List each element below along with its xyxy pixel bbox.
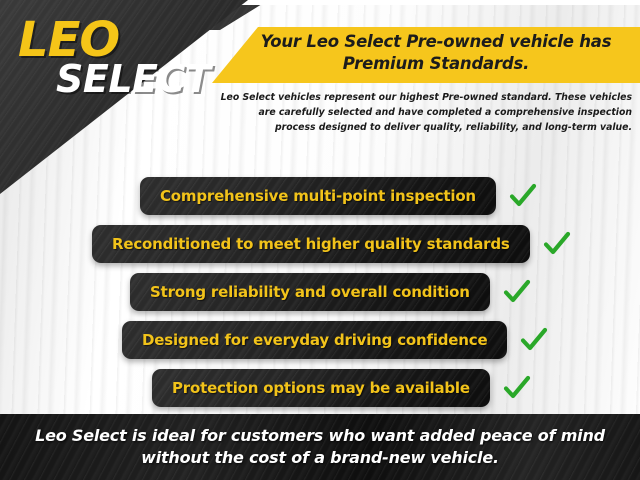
page-headline: Your Leo Select Pre-owned vehicle has Pr… bbox=[240, 31, 632, 75]
footer-bar: Leo Select is ideal for customers who wa… bbox=[0, 414, 640, 480]
leo-select-poster: LEO SELECT Your Leo Select Pre-owned veh… bbox=[0, 0, 640, 480]
leo-select-logo: LEO SELECT bbox=[18, 16, 208, 106]
feature-pill-label: Reconditioned to meet higher quality sta… bbox=[112, 235, 510, 253]
feature-pill-label: Strong reliability and overall condition bbox=[150, 283, 470, 301]
check-icon bbox=[542, 229, 572, 259]
check-icon bbox=[519, 325, 549, 355]
feature-pill[interactable]: Comprehensive multi-point inspection bbox=[140, 177, 496, 215]
feature-pill[interactable]: Protection options may be available bbox=[152, 369, 490, 407]
feature-pill-label: Designed for everyday driving confidence bbox=[142, 331, 487, 349]
feature-row: Strong reliability and overall condition bbox=[0, 268, 640, 316]
feature-pill[interactable]: Strong reliability and overall condition bbox=[130, 273, 490, 311]
feature-pill-label: Protection options may be available bbox=[172, 379, 470, 397]
check-icon bbox=[502, 373, 532, 403]
check-icon bbox=[508, 181, 538, 211]
check-icon bbox=[502, 277, 532, 307]
header-top-white-strip bbox=[232, 0, 640, 5]
feature-pill[interactable]: Designed for everyday driving confidence bbox=[122, 321, 507, 359]
footer-text: Leo Select is ideal for customers who wa… bbox=[30, 425, 610, 469]
feature-row: Designed for everyday driving confidence bbox=[0, 316, 640, 364]
intro-paragraph: Leo Select vehicles represent our highes… bbox=[218, 90, 632, 135]
feature-pill-label: Comprehensive multi-point inspection bbox=[160, 187, 476, 205]
feature-pill[interactable]: Reconditioned to meet higher quality sta… bbox=[92, 225, 530, 263]
feature-row: Reconditioned to meet higher quality sta… bbox=[0, 220, 640, 268]
logo-text-select: SELECT bbox=[56, 60, 210, 98]
feature-list: Comprehensive multi-point inspectionReco… bbox=[0, 172, 640, 412]
feature-row: Protection options may be available bbox=[0, 364, 640, 412]
feature-row: Comprehensive multi-point inspection bbox=[0, 172, 640, 220]
